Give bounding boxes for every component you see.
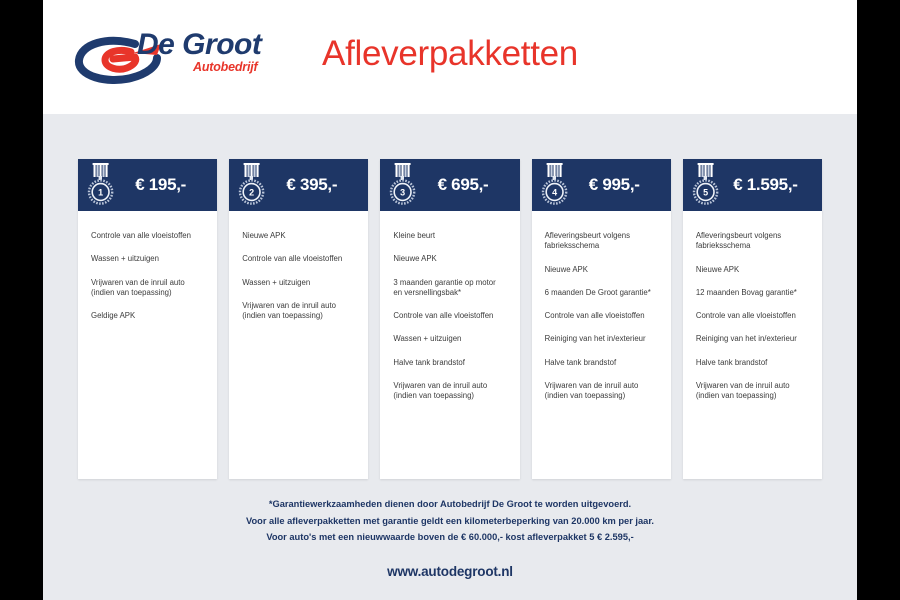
footer-note-line: *Garantiewerkzaamheden dienen door Autob… xyxy=(43,496,857,513)
package-feature-item: 3 maanden garantie op motor en versnelli… xyxy=(393,278,506,299)
package-price: € 195,- xyxy=(118,175,207,195)
content-area: 1€ 195,-Controle van alle vloeistoffenWa… xyxy=(43,114,857,600)
package-card-header: 3€ 695,- xyxy=(380,159,519,211)
footer: *Garantiewerkzaamheden dienen door Autob… xyxy=(43,496,857,579)
medal-icon: 4 xyxy=(538,162,572,208)
svg-text:1: 1 xyxy=(98,188,103,198)
medal-icon: 5 xyxy=(689,162,723,208)
package-price: € 695,- xyxy=(420,175,509,195)
package-feature-item: Vrijwaren van de inruil auto (indien van… xyxy=(393,381,506,402)
package-card-list: 1€ 195,-Controle van alle vloeistoffenWa… xyxy=(78,159,822,479)
package-feature-item: Afleveringsbeurt volgens fabrieksschema xyxy=(545,231,658,252)
package-card[interactable]: 5€ 1.595,-Afleveringsbeurt volgens fabri… xyxy=(683,159,822,479)
package-feature-list: Afleveringsbeurt volgens fabrieksschemaN… xyxy=(683,211,822,479)
website-link[interactable]: www.autodegroot.nl xyxy=(43,564,857,579)
package-card-header: 4€ 995,- xyxy=(532,159,671,211)
package-feature-item: Wassen + uitzuigen xyxy=(242,278,355,288)
package-feature-item: Wassen + uitzuigen xyxy=(91,254,204,264)
package-card[interactable]: 4€ 995,-Afleveringsbeurt volgens fabriek… xyxy=(532,159,671,479)
package-price: € 1.595,- xyxy=(723,175,812,195)
package-feature-item: Nieuwe APK xyxy=(393,254,506,264)
package-feature-item: Vrijwaren van de inruil auto (indien van… xyxy=(242,301,355,322)
package-feature-item: Kleine beurt xyxy=(393,231,506,241)
footer-note-line: Voor auto's met een nieuwwaarde boven de… xyxy=(43,529,857,546)
package-card-header: 2€ 395,- xyxy=(229,159,368,211)
package-feature-item: Controle van alle vloeistoffen xyxy=(545,311,658,321)
footer-note-line: Voor alle afleverpakketten met garantie … xyxy=(43,513,857,530)
package-card[interactable]: 3€ 695,-Kleine beurtNieuwe APK3 maanden … xyxy=(380,159,519,479)
package-feature-item: Controle van alle vloeistoffen xyxy=(91,231,204,241)
package-feature-list: Afleveringsbeurt volgens fabrieksschemaN… xyxy=(532,211,671,479)
package-feature-item: Controle van alle vloeistoffen xyxy=(242,254,355,264)
page-title: Afleverpakketten xyxy=(43,34,857,74)
package-feature-item: Nieuwe APK xyxy=(696,265,809,275)
svg-text:5: 5 xyxy=(703,188,708,198)
package-feature-item: Halve tank brandstof xyxy=(696,358,809,368)
medal-icon: 2 xyxy=(235,162,269,208)
poster-canvas: De Groot Autobedrijf Afleverpakketten 1€… xyxy=(43,0,857,600)
package-feature-item: Vrijwaren van de inruil auto (indien van… xyxy=(545,381,658,402)
package-feature-item: Vrijwaren van de inruil auto (indien van… xyxy=(91,278,204,299)
medal-icon: 3 xyxy=(386,162,420,208)
package-feature-item: Controle van alle vloeistoffen xyxy=(393,311,506,321)
package-card[interactable]: 2€ 395,-Nieuwe APKControle van alle vloe… xyxy=(229,159,368,479)
medal-icon: 1 xyxy=(84,162,118,208)
package-feature-item: Nieuwe APK xyxy=(545,265,658,275)
package-feature-item: Vrijwaren van de inruil auto (indien van… xyxy=(696,381,809,402)
package-card[interactable]: 1€ 195,-Controle van alle vloeistoffenWa… xyxy=(78,159,217,479)
package-feature-item: Nieuwe APK xyxy=(242,231,355,241)
package-feature-item: Reiniging van het in/exterieur xyxy=(696,334,809,344)
package-feature-list: Controle van alle vloeistoffenWassen + u… xyxy=(78,211,217,479)
package-feature-item: 12 maanden Bovag garantie* xyxy=(696,288,809,298)
package-feature-item: Controle van alle vloeistoffen xyxy=(696,311,809,321)
package-feature-item: Wassen + uitzuigen xyxy=(393,334,506,344)
package-feature-list: Nieuwe APKControle van alle vloeistoffen… xyxy=(229,211,368,479)
svg-text:3: 3 xyxy=(400,188,405,198)
package-feature-list: Kleine beurtNieuwe APK3 maanden garantie… xyxy=(380,211,519,479)
package-feature-item: Reiniging van het in/exterieur xyxy=(545,334,658,344)
package-feature-item: Halve tank brandstof xyxy=(393,358,506,368)
package-card-header: 1€ 195,- xyxy=(78,159,217,211)
package-feature-item: Geldige APK xyxy=(91,311,204,321)
package-feature-item: Afleveringsbeurt volgens fabrieksschema xyxy=(696,231,809,252)
package-price: € 995,- xyxy=(572,175,661,195)
package-feature-item: Halve tank brandstof xyxy=(545,358,658,368)
package-card-header: 5€ 1.595,- xyxy=(683,159,822,211)
package-price: € 395,- xyxy=(269,175,358,195)
page-header: De Groot Autobedrijf Afleverpakketten xyxy=(43,0,857,114)
svg-text:4: 4 xyxy=(552,188,557,198)
svg-text:2: 2 xyxy=(249,188,254,198)
package-feature-item: 6 maanden De Groot garantie* xyxy=(545,288,658,298)
